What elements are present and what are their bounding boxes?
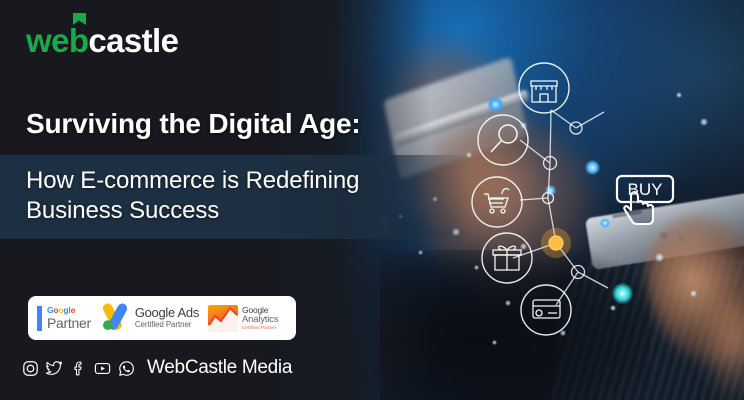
- shopping-cart-icon: [472, 177, 522, 227]
- google-ads-title: Google Ads: [135, 306, 199, 320]
- brand-name: WebCastle Media: [147, 357, 292, 379]
- google-ads-subtitle: Certified Partner: [135, 321, 199, 330]
- twitter-icon[interactable]: [46, 360, 63, 377]
- storefront-icon: [519, 63, 569, 113]
- webcastle-logo[interactable]: web castle: [26, 24, 178, 57]
- marketing-banner: BUY web castle Surviving the Digital Age…: [0, 0, 744, 400]
- whatsapp-icon[interactable]: [118, 360, 135, 377]
- analytics-line3: Certified Partner: [242, 326, 278, 331]
- social-links: WebCastle Media: [22, 357, 292, 379]
- logo-web-text: web: [26, 24, 88, 57]
- badge-google-ads[interactable]: Google Ads Certified Partner: [100, 303, 199, 333]
- badge-google-partner[interactable]: Google Partner: [37, 306, 91, 331]
- gift-box-icon: [482, 233, 532, 283]
- instagram-icon[interactable]: [22, 360, 39, 377]
- headline: Surviving the Digital Age:: [26, 108, 360, 140]
- credit-card-icon: [521, 285, 571, 335]
- google-analytics-logo-icon: [208, 305, 238, 332]
- certification-badges: Google Partner Google Ads Certified Part…: [28, 296, 296, 340]
- youtube-icon[interactable]: [94, 360, 111, 377]
- google-wordmark: Google: [47, 306, 91, 315]
- google-ads-logo-icon: [100, 303, 130, 333]
- buy-button-graphic: BUY: [617, 176, 673, 202]
- analytics-line2: Analytics: [242, 315, 278, 325]
- subheadline: How E-commerce is Redefining Business Su…: [26, 166, 359, 226]
- logo-castle-text: castle: [88, 24, 178, 57]
- google-partner-bar-icon: [37, 306, 42, 331]
- badge-google-analytics[interactable]: Google Analytics Certified Partner: [208, 305, 278, 332]
- facebook-icon[interactable]: [70, 360, 87, 377]
- partner-label: Partner: [47, 316, 91, 330]
